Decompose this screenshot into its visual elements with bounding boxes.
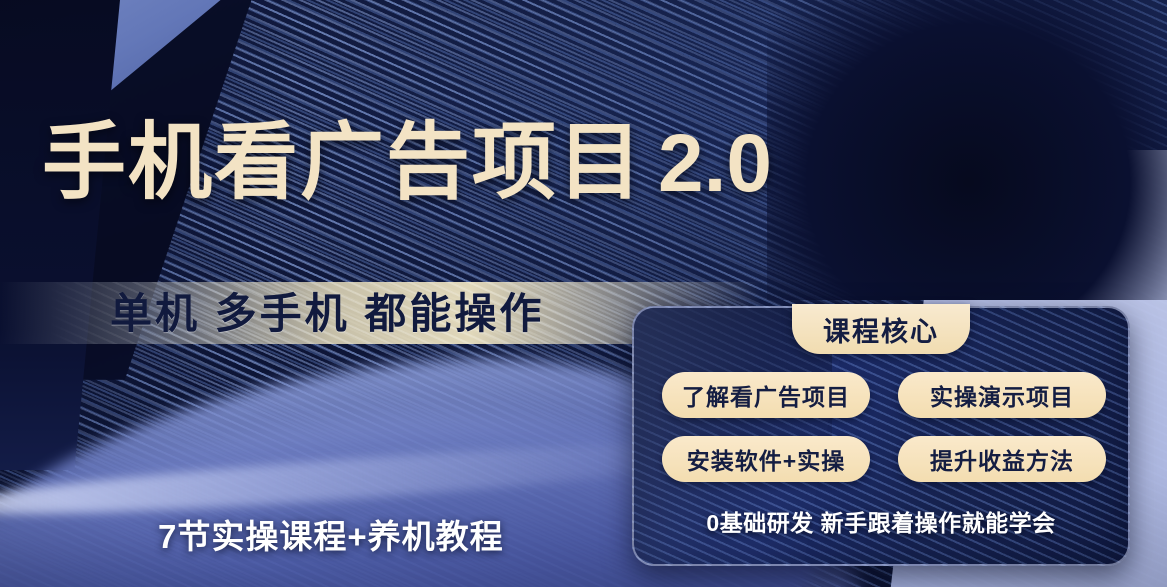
page-title: 手机看广告项目2.0	[42, 120, 772, 205]
promo-poster: 手机看广告项目2.0 单机 多手机 都能操作 7节实操课程+养机教程 课程核心 …	[0, 0, 1167, 587]
course-core-header-pill: 课程核心	[792, 304, 970, 354]
page-title-version: 2.0	[658, 118, 772, 209]
bottom-caption: 7节实操课程+养机教程	[158, 518, 504, 556]
course-pill-3[interactable]: 安装软件+实操	[662, 436, 870, 482]
subtitle-text: 单机 多手机 都能操作	[110, 291, 544, 337]
course-pill-2[interactable]: 实操演示项目	[898, 372, 1106, 418]
course-core-pill-grid: 了解看广告项目 实操演示项目 安装软件+实操 提升收益方法	[662, 372, 1106, 482]
course-card-footnote: 0基础研发 新手跟着操作就能学会	[632, 504, 1130, 538]
dark-shade-top-right	[767, 0, 1167, 300]
course-pill-4[interactable]: 提升收益方法	[898, 436, 1106, 482]
page-title-text: 手机看广告项目	[42, 115, 644, 209]
course-pill-1[interactable]: 了解看广告项目	[662, 372, 870, 418]
